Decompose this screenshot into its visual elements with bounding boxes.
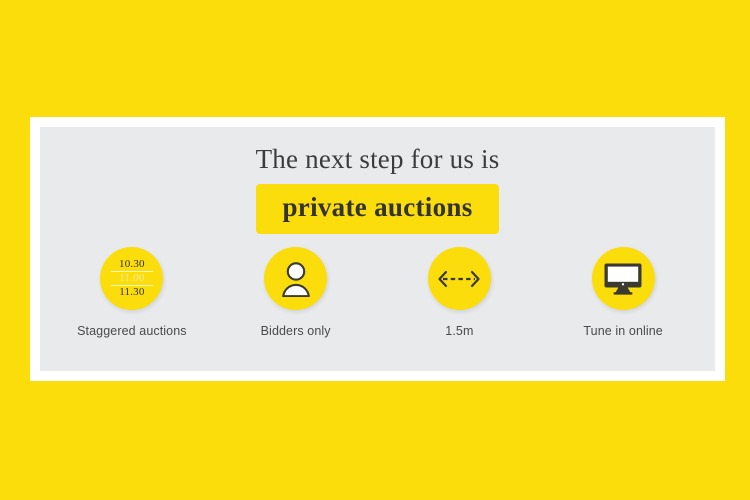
clock-times-icon: 10.30 11.00 11.30 xyxy=(111,258,153,299)
feature-label: Tune in online xyxy=(583,324,662,338)
feature-icon-circle: 10.30 11.00 11.30 xyxy=(100,247,163,310)
feature-icon-circle xyxy=(428,247,491,310)
distance-arrow-icon xyxy=(437,269,481,289)
time-slot: 10.30 xyxy=(111,258,153,271)
page-title: The next step for us is xyxy=(40,145,715,175)
feature-label: Staggered auctions xyxy=(77,324,187,338)
feature-label: 1.5m xyxy=(445,324,473,338)
feature-item-tune-in-online: Tune in online xyxy=(548,247,698,338)
card-panel: The next step for us is private auctions… xyxy=(40,127,715,371)
highlight-row: private auctions xyxy=(40,184,715,234)
poster-canvas: The next step for us is private auctions… xyxy=(0,0,750,500)
feature-item-staggered-auctions: 10.30 11.00 11.30 Staggered auctions xyxy=(57,247,207,338)
highlight-badge: private auctions xyxy=(256,184,498,234)
time-slot-muted: 11.00 xyxy=(111,272,153,285)
card-frame: The next step for us is private auctions… xyxy=(30,117,725,381)
feature-item-distance: 1.5m xyxy=(384,247,534,338)
feature-icon-circle xyxy=(592,247,655,310)
person-icon xyxy=(279,261,313,297)
feature-label: Bidders only xyxy=(261,324,331,338)
monitor-icon xyxy=(603,262,643,296)
feature-item-bidders-only: Bidders only xyxy=(221,247,371,338)
feature-list: 10.30 11.00 11.30 Staggered auctions xyxy=(40,247,715,338)
time-slot: 11.30 xyxy=(111,286,153,299)
feature-icon-circle xyxy=(264,247,327,310)
